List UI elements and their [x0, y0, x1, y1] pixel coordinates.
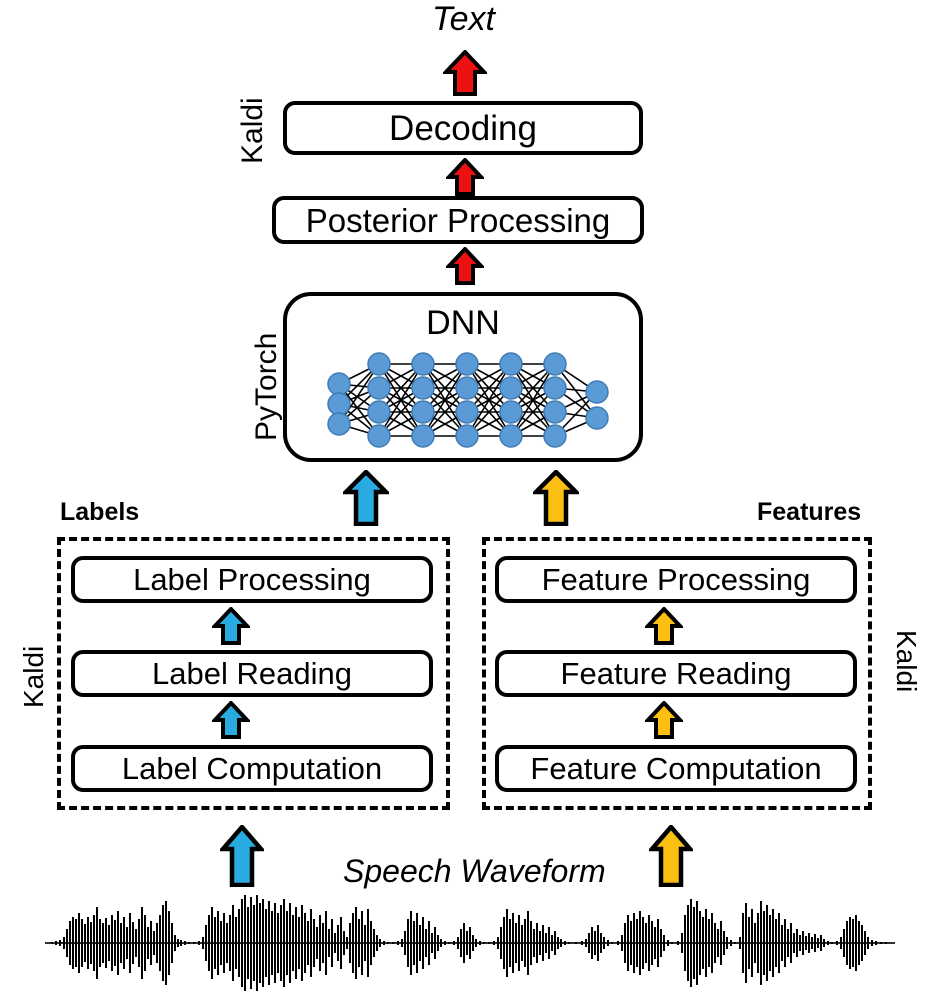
- arrow-labels-to-dnn: [343, 470, 389, 526]
- box-posterior-processing-label: Posterior Processing: [306, 204, 610, 237]
- group-label-features: Features: [757, 500, 861, 525]
- box-label-computation[interactable]: Label Computation: [71, 745, 433, 792]
- box-feature-reading-label: Feature Reading: [561, 658, 792, 689]
- box-label-reading-label: Label Reading: [152, 658, 352, 689]
- arrow-waveform-to-labels: [220, 825, 264, 887]
- box-feature-processing[interactable]: Feature Processing: [495, 556, 857, 603]
- arrow-decoding-to-text: [443, 50, 487, 96]
- box-posterior-processing[interactable]: Posterior Processing: [272, 196, 644, 244]
- side-label-kaldi-left: Kaldi: [20, 646, 48, 708]
- arrow-waveform-to-features: [649, 825, 693, 887]
- box-feature-computation[interactable]: Feature Computation: [495, 745, 857, 792]
- arrow-dnn-to-posterior: [446, 247, 484, 285]
- box-feature-reading[interactable]: Feature Reading: [495, 650, 857, 697]
- box-decoding-label: Decoding: [389, 111, 537, 146]
- arrow-features-to-dnn: [533, 470, 579, 526]
- output-text-label: Text: [432, 2, 495, 36]
- box-dnn[interactable]: DNN: [283, 292, 643, 462]
- arrow-feature-reading-to-feature-processing: [645, 607, 683, 645]
- diagram-canvas: Text Kaldi Decoding Posterior Processing…: [0, 0, 940, 996]
- side-label-kaldi-top: Kaldi: [238, 97, 268, 164]
- box-label-computation-label: Label Computation: [122, 753, 382, 784]
- box-dnn-label: DNN: [287, 306, 639, 340]
- box-decoding[interactable]: Decoding: [283, 101, 643, 155]
- input-waveform-label: Speech Waveform: [343, 855, 606, 887]
- box-label-processing[interactable]: Label Processing: [71, 556, 433, 603]
- group-label-labels: Labels: [60, 500, 139, 525]
- arrow-label-computation-to-label-reading: [212, 701, 250, 739]
- box-feature-computation-label: Feature Computation: [530, 753, 821, 784]
- arrow-label-reading-to-label-processing: [212, 607, 250, 645]
- arrow-posterior-to-decoding: [446, 158, 484, 196]
- box-feature-processing-label: Feature Processing: [542, 564, 811, 595]
- box-label-reading[interactable]: Label Reading: [71, 650, 433, 697]
- side-label-pytorch: PyTorch: [252, 333, 282, 441]
- arrow-feature-computation-to-feature-reading: [645, 701, 683, 739]
- speech-waveform-graphic: [45, 893, 895, 993]
- neural-network-illustration: [325, 348, 613, 460]
- box-label-processing-label: Label Processing: [133, 564, 371, 595]
- side-label-kaldi-right: Kaldi: [892, 630, 920, 692]
